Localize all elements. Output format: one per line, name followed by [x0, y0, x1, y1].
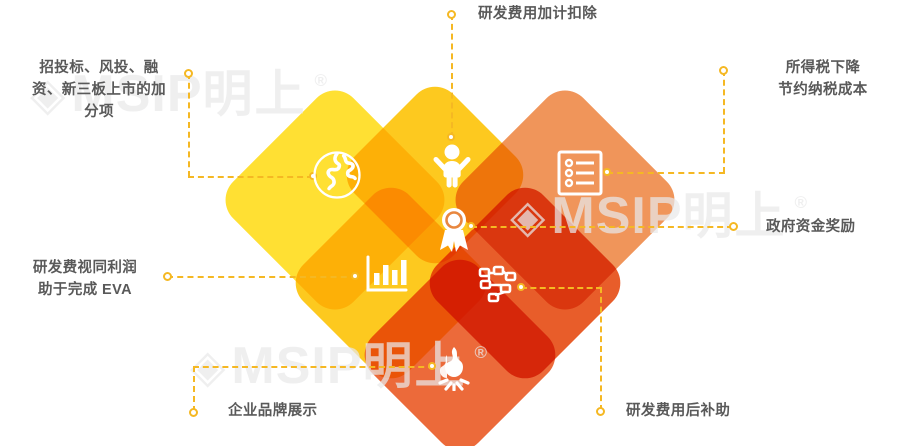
connector-node-chart-end: [163, 272, 172, 281]
connector-chart-horizontal: [167, 276, 357, 278]
connector-node-chart-anchor: [351, 272, 359, 280]
connector-node-globe-end: [184, 69, 193, 78]
connector-bonfire-horizontal: [193, 366, 434, 368]
label-network: 研发费用后补助: [626, 401, 806, 423]
bar-chart-icon: [365, 255, 409, 295]
label-medal: 政府资金奖励: [766, 217, 896, 239]
connector-person-vertical: [451, 14, 453, 138]
medal-icon: [432, 205, 476, 253]
connector-node-network-end: [596, 407, 605, 416]
label-chart: 研发费视同利润 助于完成 EVA: [6, 258, 164, 302]
label-person: 研发费用加计扣除: [478, 4, 678, 26]
connector-network-horizontal: [521, 287, 602, 289]
watermark-cn: 明上: [203, 69, 307, 119]
connector-node-person-anchor: [447, 133, 455, 141]
connector-checklist-vertical: [723, 70, 725, 173]
connector-node-bonfire-end: [189, 408, 198, 417]
connector-checklist-horizontal: [607, 172, 725, 174]
connector-globe-horizontal: [188, 176, 313, 178]
globe-icon: [310, 148, 364, 202]
label-globe: 招投标、风投、融 资、新三板上市的加 分项: [18, 58, 180, 123]
bonfire-icon: [432, 345, 476, 391]
watermark-registered: ®: [795, 194, 808, 211]
connector-node-checklist-anchor: [603, 168, 611, 176]
infographic-canvas: ◈ MSIP 明上 ® ◈ MSIP 明上 ® ◈ MSIP 明上 ®: [0, 0, 900, 446]
network-icon: [477, 265, 519, 307]
watermark-registered: ®: [315, 72, 328, 89]
person-cheer-icon: [432, 143, 472, 189]
connector-node-medal-end: [729, 222, 738, 231]
connector-globe-vertical: [188, 73, 190, 177]
label-checklist: 所得税下降 节约纳税成本: [758, 58, 888, 102]
connector-node-person-end: [447, 10, 456, 19]
connector-bonfire-vertical: [193, 366, 195, 412]
label-bonfire: 企业品牌展示: [228, 401, 388, 423]
checklist-icon: [557, 150, 603, 196]
connector-medal-horizontal: [471, 226, 733, 228]
connector-network-vertical: [600, 287, 602, 411]
connector-node-checklist-end: [719, 66, 728, 75]
